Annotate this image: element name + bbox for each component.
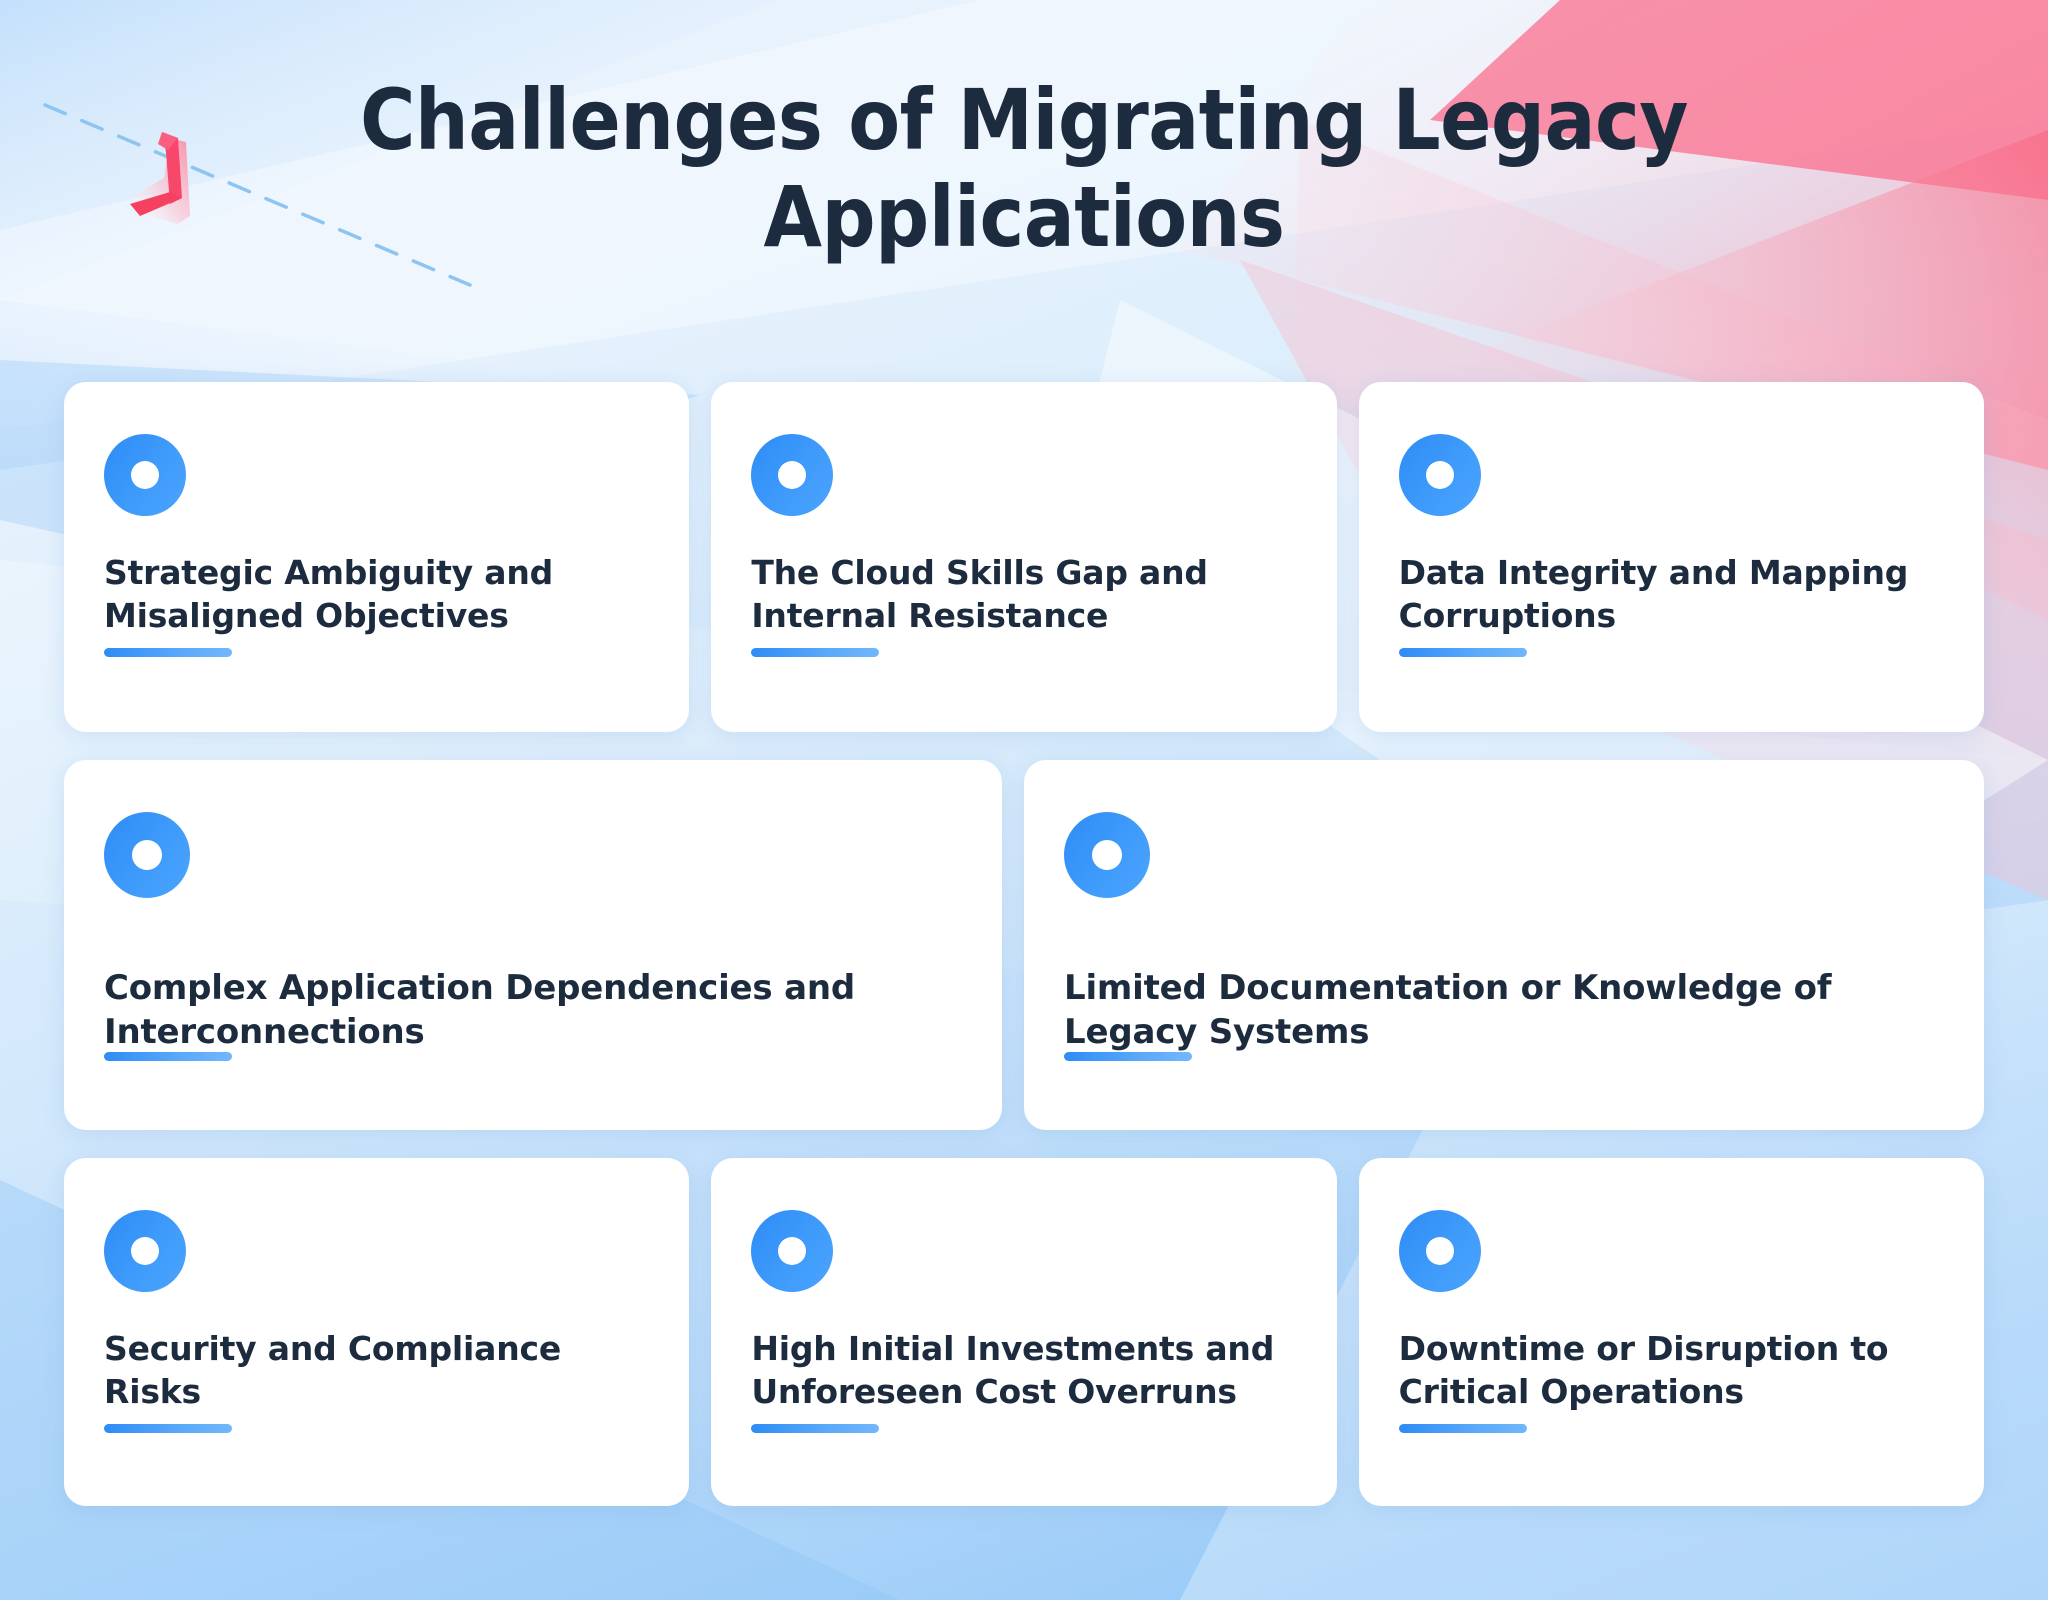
donut-ring-icon xyxy=(1399,434,1481,516)
card-title: Complex Application Dependencies and Int… xyxy=(104,966,934,1054)
page-title: Challenges of Migrating Legacy Applicati… xyxy=(324,72,1724,267)
challenge-card[interactable]: Strategic Ambiguity and Misaligned Objec… xyxy=(64,382,689,732)
challenge-card[interactable]: High Initial Investments and Unforeseen … xyxy=(711,1158,1336,1506)
donut-hole xyxy=(131,461,159,489)
challenge-card[interactable]: Security and Compliance Risks xyxy=(64,1158,689,1506)
donut-ring-icon xyxy=(751,434,833,516)
accent-underline xyxy=(751,648,879,657)
donut-ring-icon xyxy=(104,1210,186,1292)
donut-hole xyxy=(131,1237,159,1265)
challenge-card[interactable]: Data Integrity and Mapping Corruptions xyxy=(1359,382,1984,732)
card-title: Downtime or Disruption to Critical Opera… xyxy=(1399,1328,1944,1414)
challenge-card[interactable]: Limited Documentation or Knowledge of Le… xyxy=(1024,760,1984,1130)
card-title: Strategic Ambiguity and Misaligned Objec… xyxy=(104,552,649,638)
donut-hole xyxy=(778,461,806,489)
challenge-card[interactable]: The Cloud Skills Gap and Internal Resist… xyxy=(711,382,1336,732)
donut-ring-icon xyxy=(1064,812,1150,898)
accent-underline xyxy=(1064,1052,1192,1061)
accent-underline xyxy=(751,1424,879,1433)
donut-ring-icon xyxy=(751,1210,833,1292)
card-title: High Initial Investments and Unforeseen … xyxy=(751,1328,1296,1414)
donut-ring-icon xyxy=(1399,1210,1481,1292)
card-title: The Cloud Skills Gap and Internal Resist… xyxy=(751,552,1296,638)
card-title: Security and Compliance Risks xyxy=(104,1328,649,1414)
chevron-arrow-motion-icon xyxy=(118,120,238,250)
infographic-canvas: Challenges of Migrating Legacy Applicati… xyxy=(0,0,2048,1600)
donut-hole xyxy=(1426,1237,1454,1265)
card-row-2: Complex Application Dependencies and Int… xyxy=(64,760,1984,1130)
card-grid: Strategic Ambiguity and Misaligned Objec… xyxy=(64,382,1984,1534)
donut-ring-icon xyxy=(104,434,186,516)
card-row-1: Strategic Ambiguity and Misaligned Objec… xyxy=(64,382,1984,732)
challenge-card[interactable]: Downtime or Disruption to Critical Opera… xyxy=(1359,1158,1984,1506)
card-row-3: Security and Compliance Risks High Initi… xyxy=(64,1158,1984,1506)
accent-underline xyxy=(104,648,232,657)
donut-ring-icon xyxy=(104,812,190,898)
accent-underline xyxy=(104,1424,232,1433)
card-title: Limited Documentation or Knowledge of Le… xyxy=(1064,966,1894,1054)
accent-underline xyxy=(1399,648,1527,657)
donut-hole xyxy=(132,840,162,870)
donut-hole xyxy=(1092,840,1122,870)
accent-underline xyxy=(104,1052,232,1061)
card-title: Data Integrity and Mapping Corruptions xyxy=(1399,552,1944,638)
donut-hole xyxy=(778,1237,806,1265)
accent-underline xyxy=(1399,1424,1527,1433)
challenge-card[interactable]: Complex Application Dependencies and Int… xyxy=(64,760,1002,1130)
donut-hole xyxy=(1426,461,1454,489)
